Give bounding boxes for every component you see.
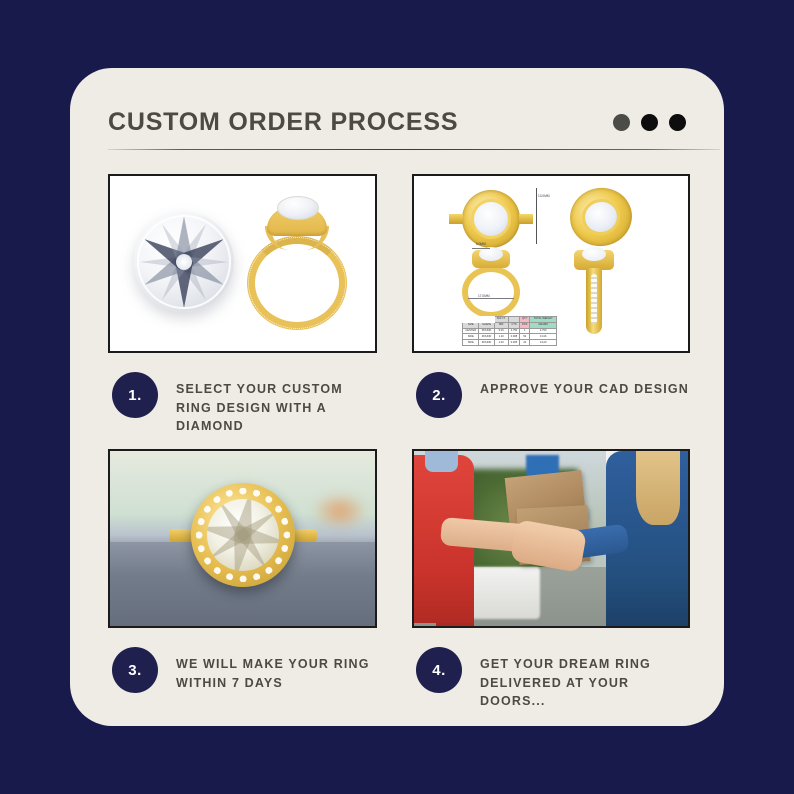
table-row: SIDE ROUND 1.00 0.005 24 0.120 xyxy=(463,340,557,346)
poster-canvas: CUSTOM ORDER PROCESS xyxy=(0,0,794,794)
finished-halo-ring-icon xyxy=(191,483,295,587)
cad-dim-label-1: 13.0MM xyxy=(538,194,550,198)
page-title: CUSTOM ORDER PROCESS xyxy=(108,108,458,137)
step-image-3 xyxy=(108,449,377,628)
dot-muted-icon xyxy=(613,114,630,131)
step-label-4: GET YOUR DREAM RING DELIVERED AT YOUR DO… xyxy=(480,647,690,711)
step-badge-1: 1. xyxy=(112,372,158,418)
dot-dark-icon-1 xyxy=(641,114,658,131)
step-row-3: 3. WE WILL MAKE YOUR RING WITHIN 7 DAYS xyxy=(108,628,377,724)
step-row-1: 1. SELECT YOUR CUSTOM RING DESIGN WITH A… xyxy=(108,353,377,449)
card-header: CUSTOM ORDER PROCESS xyxy=(108,98,686,146)
delivery-van xyxy=(469,567,540,620)
face-mask-icon xyxy=(425,451,458,472)
step-label-3: WE WILL MAKE YOUR RING WITHIN 7 DAYS xyxy=(176,647,377,692)
table-cell: 0.120 xyxy=(530,340,557,346)
customer-hair xyxy=(636,451,680,525)
diamond-body xyxy=(134,212,234,312)
cad-dim-label-2: 6.0MM xyxy=(476,242,486,246)
table-cell: 0.005 xyxy=(508,340,519,346)
step-badge-3: 3. xyxy=(112,647,158,693)
step-cell-3: 3. WE WILL MAKE YOUR RING WITHIN 7 DAYS xyxy=(108,449,377,724)
steps-grid: 1. SELECT YOUR CUSTOM RING DESIGN WITH A… xyxy=(108,174,720,724)
step-row-2: 2. APPROVE YOUR CAD DESIGN xyxy=(412,353,690,449)
step-cell-2: 13.0MM 17.0MM 6.0MM xyxy=(412,174,690,449)
cad-dim-line-vertical xyxy=(536,188,537,244)
gold-halo-ring-profile-icon xyxy=(241,196,353,332)
table-cell: 24 xyxy=(520,340,530,346)
loose-diamond-icon xyxy=(134,212,234,312)
step-cell-4: 4. GET YOUR DREAM RING DELIVERED AT YOUR… xyxy=(412,449,690,724)
background-bokeh xyxy=(313,493,367,529)
table-cell: 1.00 xyxy=(494,340,508,346)
step-label-1: SELECT YOUR CUSTOM RING DESIGN WITH A DI… xyxy=(176,372,377,436)
table-cell: ROUND xyxy=(479,340,494,346)
step-label-2: APPROVE YOUR CAD DESIGN xyxy=(480,372,689,399)
window-dots xyxy=(613,114,686,131)
cad-top-view-icon xyxy=(462,190,520,248)
step-badge-2: 2. xyxy=(416,372,462,418)
cad-three-quarter-view-icon xyxy=(565,182,638,252)
step-image-2: 13.0MM 17.0MM 6.0MM xyxy=(412,174,690,353)
cad-back-view-icon xyxy=(572,250,616,340)
header-divider xyxy=(108,149,720,150)
step-cell-1: 1. SELECT YOUR CUSTOM RING DESIGN WITH A… xyxy=(108,174,377,449)
step-badge-4: 4. xyxy=(416,647,462,693)
process-card: CUSTOM ORDER PROCESS xyxy=(70,68,724,726)
table-cell: SIDE xyxy=(463,340,479,346)
step-row-4: 4. GET YOUR DREAM RING DELIVERED AT YOUR… xyxy=(412,628,690,724)
cad-side-view-icon xyxy=(458,250,524,318)
cad-spec-table: DIA CT. QTY TOTAL WEIGHT SIZE SHAPE MM C… xyxy=(462,316,557,346)
dot-dark-icon-2 xyxy=(669,114,686,131)
step-image-1 xyxy=(108,174,377,353)
cad-dim-line-horizontal xyxy=(472,248,490,249)
cad-dim-label-3: 17.0MM xyxy=(478,294,490,298)
step-image-4 xyxy=(412,449,690,628)
